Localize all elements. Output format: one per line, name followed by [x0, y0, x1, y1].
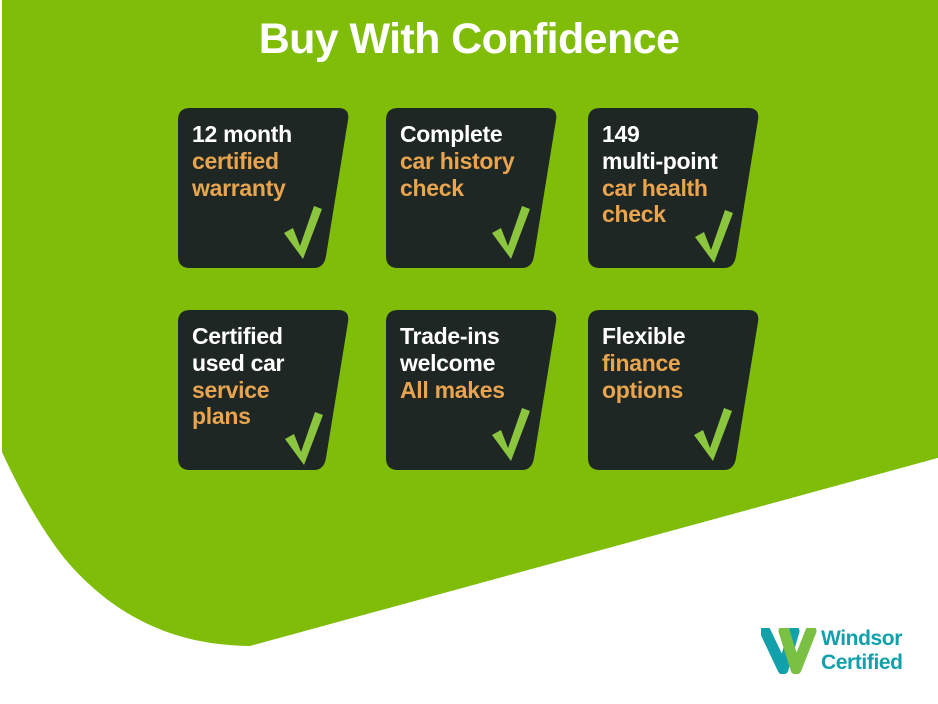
card-line: 149: [602, 121, 748, 148]
check-tick-icon: [281, 206, 323, 260]
check-tick-icon: [692, 210, 734, 264]
card-text: Flexible finance options: [602, 323, 748, 403]
check-tick-icon: [489, 408, 531, 462]
card-line: All makes: [400, 377, 546, 404]
card-line: service: [192, 377, 338, 404]
benefit-card-grid: 12 month certified warranty Complete car…: [178, 108, 778, 512]
card-line: Flexible: [602, 323, 748, 350]
benefit-card-history-check[interactable]: Complete car history check: [386, 108, 558, 268]
card-text: Complete car history check: [400, 121, 546, 201]
card-line: check: [400, 175, 546, 202]
card-row: 12 month certified warranty Complete car…: [178, 108, 778, 310]
promo-graphic: Buy With Confidence 12 month certified w…: [0, 0, 938, 704]
benefit-card-trade-ins[interactable]: Trade-ins welcome All makes: [386, 310, 558, 470]
benefit-card-warranty[interactable]: 12 month certified warranty: [178, 108, 350, 268]
card-line: 12 month: [192, 121, 338, 148]
page-title: Buy With Confidence: [0, 16, 938, 63]
benefit-card-multi-point-check[interactable]: 149 multi-point car health check: [588, 108, 760, 268]
check-tick-icon: [489, 206, 531, 260]
windsor-certified-logo[interactable]: Windsor Certified: [761, 626, 926, 678]
benefit-card-service-plans[interactable]: Certified used car service plans: [178, 310, 350, 470]
card-line: car health: [602, 175, 748, 202]
card-text: 12 month certified warranty: [192, 121, 338, 201]
card-line: multi-point: [602, 148, 748, 175]
logo-line-1: Windsor: [821, 627, 903, 651]
logo-wordmark: Windsor Certified: [821, 627, 903, 676]
card-row: Certified used car service plans Trade-i…: [178, 310, 778, 512]
card-line: Trade-ins: [400, 323, 546, 350]
check-tick-icon: [691, 408, 733, 462]
card-line: options: [602, 377, 748, 404]
card-text: Trade-ins welcome All makes: [400, 323, 546, 403]
card-line: warranty: [192, 175, 338, 202]
windsor-w-icon: [761, 628, 817, 674]
check-tick-icon: [282, 412, 324, 466]
logo-line-2: Certified: [821, 651, 903, 675]
card-line: welcome: [400, 350, 546, 377]
card-line: finance: [602, 350, 748, 377]
benefit-card-finance[interactable]: Flexible finance options: [588, 310, 760, 470]
card-line: Certified: [192, 323, 338, 350]
card-line: used car: [192, 350, 338, 377]
card-line: certified: [192, 148, 338, 175]
card-line: Complete: [400, 121, 546, 148]
card-line: car history: [400, 148, 546, 175]
